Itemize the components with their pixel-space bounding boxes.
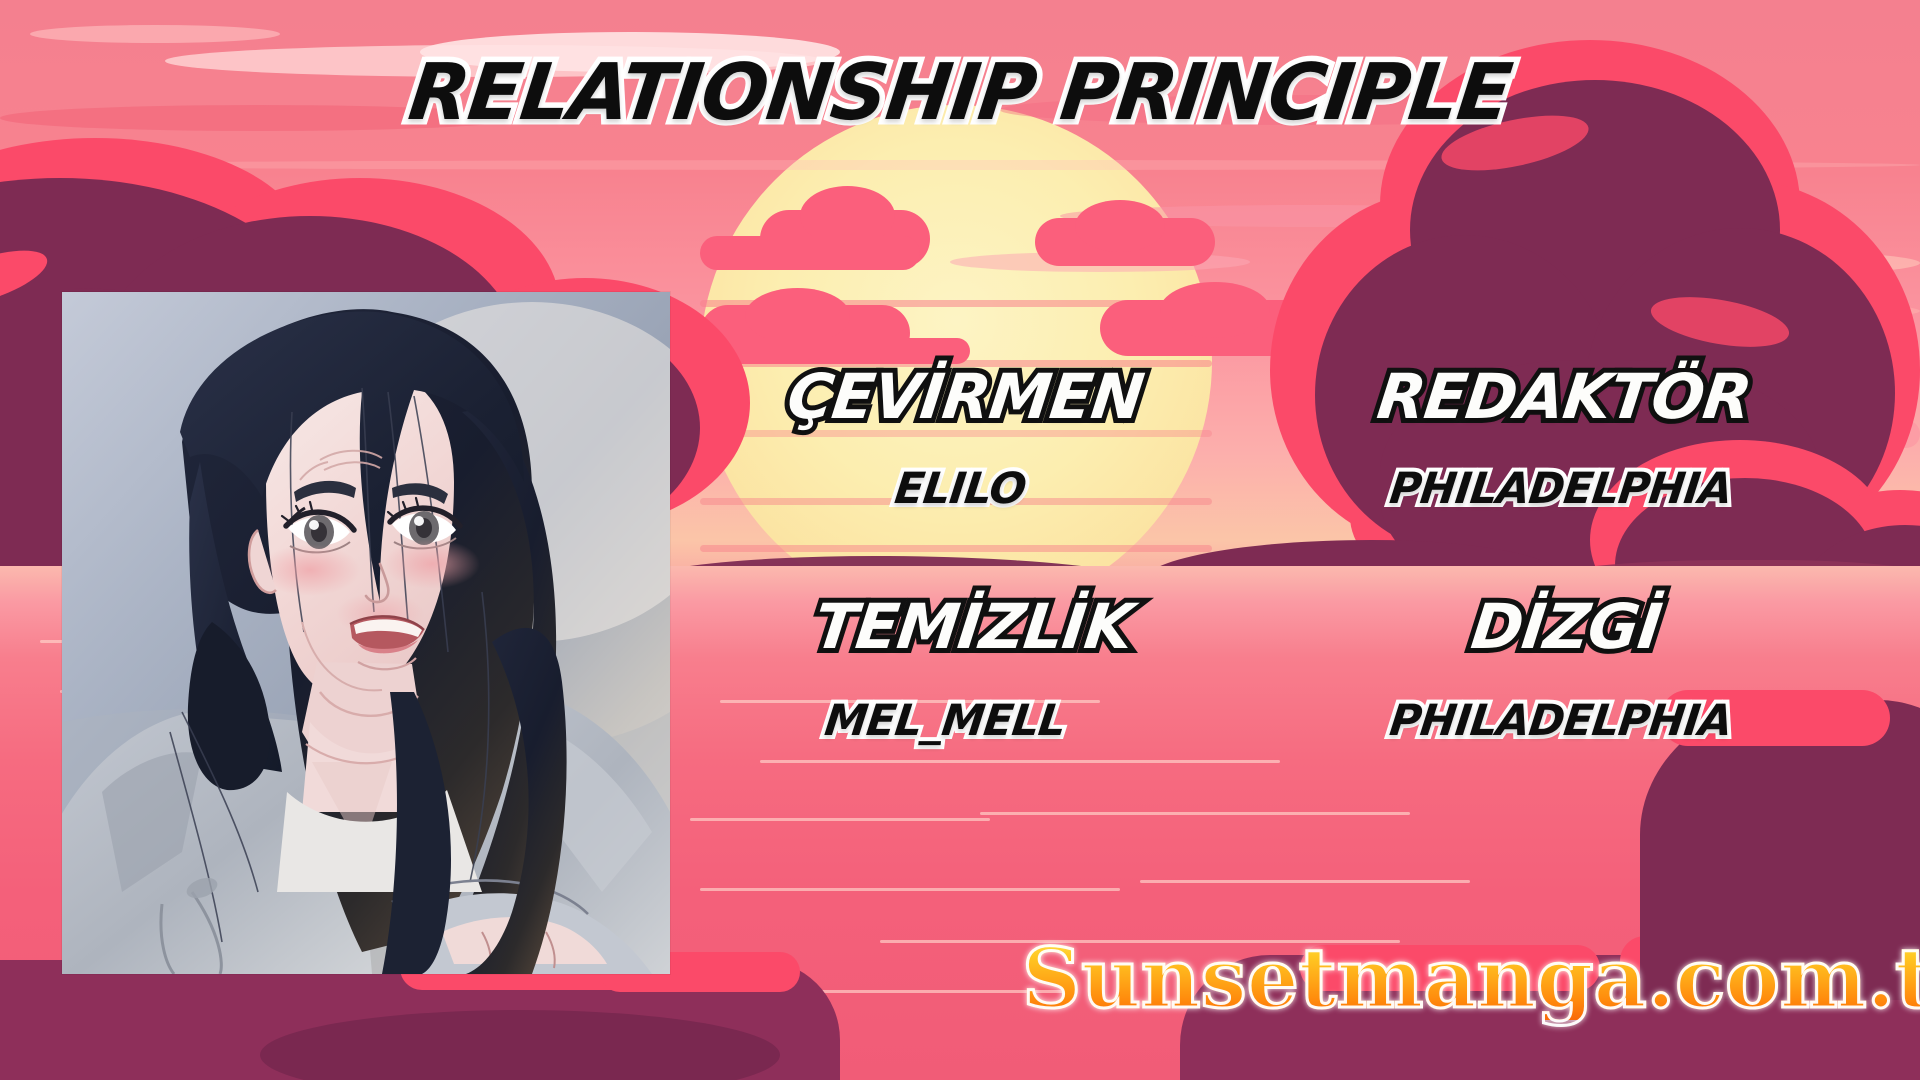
page-title: RELATIONSHIP PRINCIPLE bbox=[405, 54, 1515, 132]
puff-cloud bbox=[1075, 200, 1165, 252]
water-highlight bbox=[760, 760, 1280, 763]
credits-banner: RELATIONSHIP PRINCIPLE ÇEVİRMEN ELILO RE… bbox=[0, 0, 1920, 1080]
character-portrait bbox=[62, 292, 670, 974]
credit-name-temizlik: MEL_MELL bbox=[822, 700, 1067, 743]
puff-cloud bbox=[745, 288, 850, 344]
site-watermark: Sunsetmanga.com.tr bbox=[1022, 938, 1920, 1020]
water-highlight bbox=[700, 888, 1120, 891]
credit-name-dizgi: PHILADELPHIA bbox=[1387, 700, 1734, 743]
credit-role-dizgi: DİZGİ bbox=[1468, 596, 1664, 658]
water-highlight bbox=[1140, 880, 1470, 883]
credit-role-temizlik: TEMİZLİK bbox=[811, 596, 1136, 658]
sun-band bbox=[700, 545, 1212, 552]
credit-role-redaktor: REDAKTÖR bbox=[1374, 366, 1754, 428]
water-highlight bbox=[980, 812, 1410, 815]
character-illustration bbox=[62, 292, 670, 974]
credit-name-cevirmen: ELILO bbox=[892, 468, 1027, 511]
credit-name-redaktor: PHILADELPHIA bbox=[1387, 468, 1734, 511]
water-highlight bbox=[690, 818, 990, 821]
credit-role-cevirmen: ÇEVİRMEN bbox=[784, 366, 1146, 428]
